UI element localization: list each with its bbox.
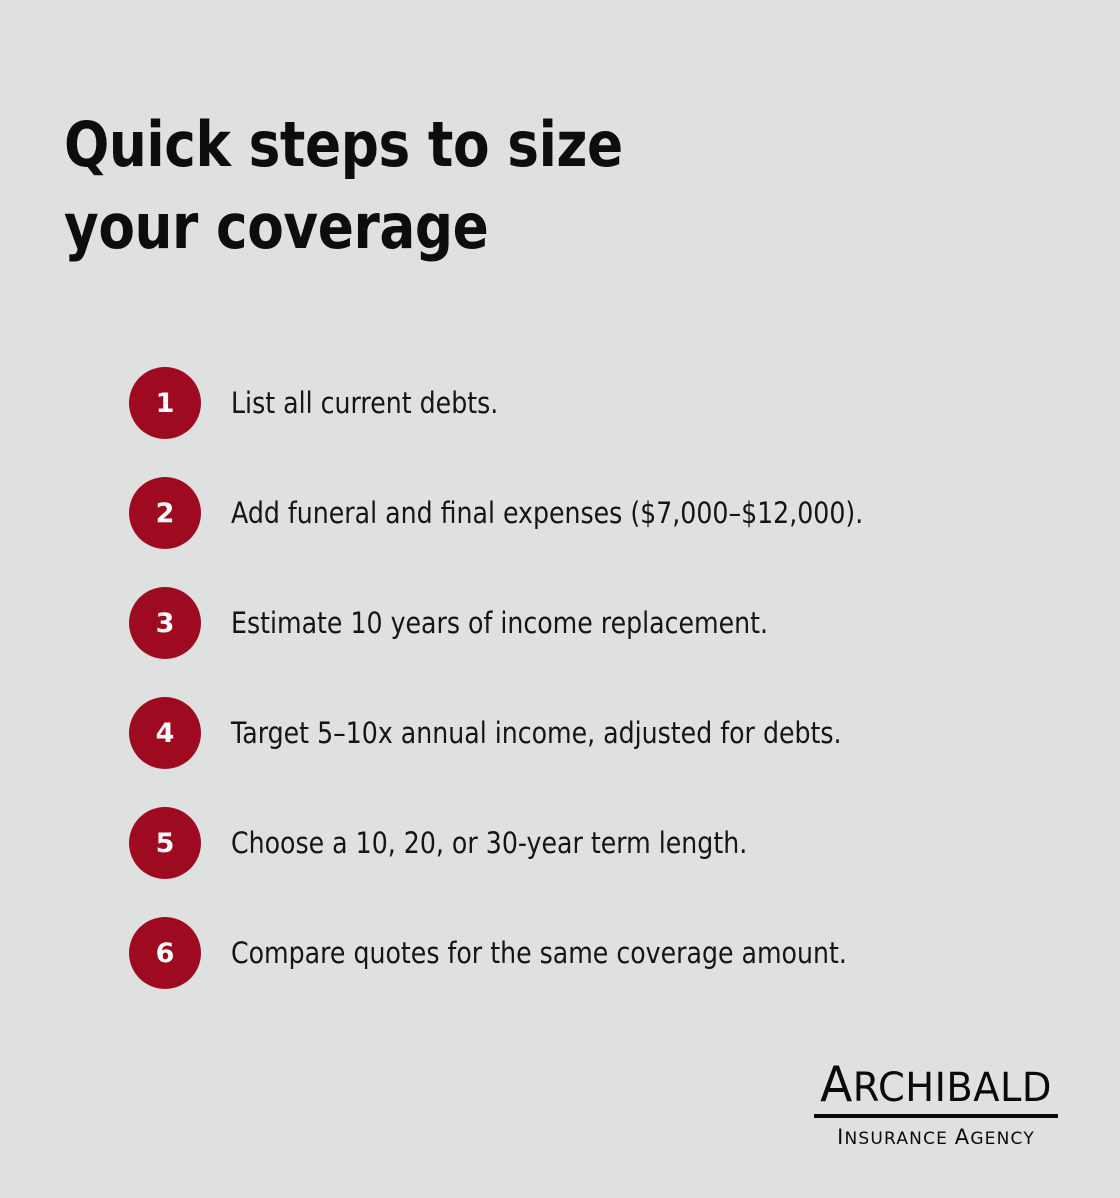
brand-tagline-rest-2: GENCY [970,1129,1035,1149]
list-item: 4 Target 5–10x annual income, adjusted f… [129,697,1069,769]
brand-tagline-rest-1: NSURANCE [844,1129,948,1149]
step-label: List all current debts. [231,385,498,421]
step-label: Target 5–10x annual income, adjusted for… [231,715,842,751]
step-number-badge: 5 [129,807,201,879]
brand-name: ARCHIBALD [819,1060,1053,1109]
step-label: Compare quotes for the same coverage amo… [231,935,847,971]
brand-tagline: INSURANCE AGENCY [814,1127,1058,1148]
step-label: Choose a 10, 20, or 30-year term length. [231,825,747,861]
step-number-badge: 3 [129,587,201,659]
logo-divider [814,1114,1058,1118]
list-item: 2 Add funeral and final expenses ($7,000… [129,477,1069,549]
step-number-badge: 4 [129,697,201,769]
step-number-badge: 1 [129,367,201,439]
steps-list: 1 List all current debts. 2 Add funeral … [129,367,1069,989]
list-item: 6 Compare quotes for the same coverage a… [129,917,1069,989]
brand-logo: ARCHIBALD INSURANCE AGENCY [814,1060,1058,1148]
list-item: 3 Estimate 10 years of income replacemen… [129,587,1069,659]
brand-name-initial: A [820,1056,853,1113]
step-label: Estimate 10 years of income replacement. [231,605,768,641]
step-label: Add funeral and final expenses ($7,000–$… [231,495,863,531]
brand-tagline-initial-2: A [955,1125,971,1149]
list-item: 1 List all current debts. [129,367,1069,439]
step-number-badge: 2 [129,477,201,549]
step-number-badge: 6 [129,917,201,989]
page-title: Quick steps to size your coverage [64,104,752,268]
infographic-card: Quick steps to size your coverage 1 List… [0,0,1120,1198]
brand-name-rest: RCHIBALD [853,1065,1052,1111]
list-item: 5 Choose a 10, 20, or 30-year term lengt… [129,807,1069,879]
